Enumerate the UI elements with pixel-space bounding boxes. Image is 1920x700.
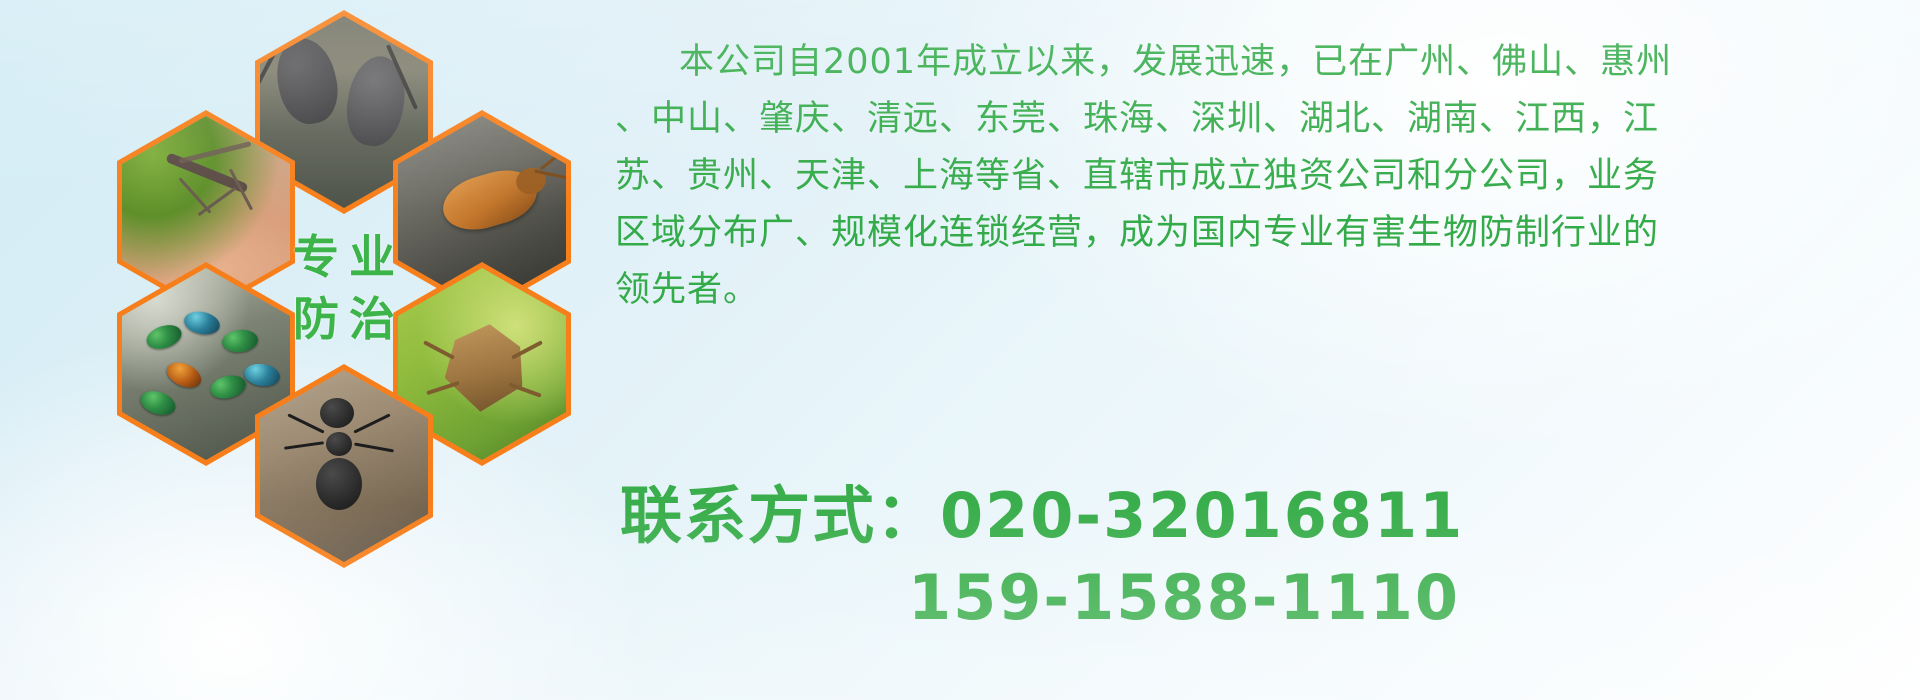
intro-line: 区域分布广、规模化连锁经营，成为国内专业有害生物防制行业的	[615, 205, 1900, 262]
contact-block: 联系方式：020-32016811 159-1588-1110	[620, 475, 1910, 639]
phone-number-secondary[interactable]: 159-1588-1110	[908, 561, 1460, 634]
intro-line: 领先者。	[615, 262, 1900, 319]
honeycomb-collage: 专业 防治	[95, 8, 595, 548]
contact-label: 联系方式：	[620, 479, 940, 552]
ant-photo	[260, 370, 428, 562]
intro-line: 、中山、肇庆、清远、东莞、珠海、深圳、湖北、湖南、江西，江	[615, 91, 1900, 148]
intro-line: 苏、贵州、天津、上海等省、直辖市成立独资公司和分公司，业务	[615, 148, 1900, 205]
company-intro-paragraph: 本公司自2001年成立以来，发展迅速，已在广州、佛山、惠州 、中山、肇庆、清远、…	[615, 34, 1900, 319]
promo-banner: 专业 防治 本公司自2001年成立以来，发展迅速，已在广州、佛山、惠州 、中山、…	[0, 0, 1920, 700]
intro-line: 本公司自2001年成立以来，发展迅速，已在广州、佛山、惠州	[615, 34, 1900, 91]
center-label-line-1: 专业	[283, 234, 405, 280]
phone-number-primary[interactable]: 020-32016811	[940, 479, 1464, 552]
contact-secondary-row: 159-1588-1110	[620, 557, 1910, 639]
contact-primary-row: 联系方式：020-32016811	[620, 475, 1910, 557]
honeycomb-center-label: 专业 防治	[255, 186, 433, 390]
hex-cell-inner	[260, 370, 428, 562]
center-label-line-2: 防治	[283, 296, 405, 342]
